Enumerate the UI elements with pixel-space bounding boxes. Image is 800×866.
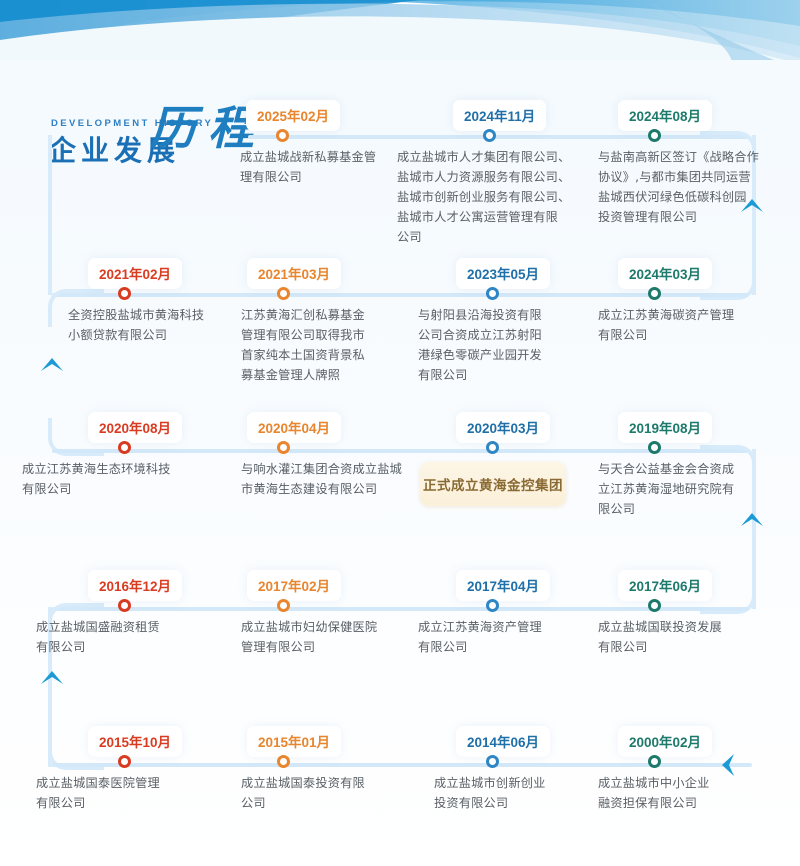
item-description: 成立盐城国泰医院管理 有限公司 — [36, 773, 211, 813]
date-label: 2000年02月 — [618, 726, 712, 757]
timeline-dot — [648, 441, 661, 454]
date-label: 2020年04月 — [247, 412, 341, 443]
timeline-dot — [277, 755, 290, 768]
item-description: 成立盐城国泰投资有限 公司 — [241, 773, 411, 813]
date-label: 2017年02月 — [247, 570, 341, 601]
timeline-dot — [648, 755, 661, 768]
date-label: 2019年08月 — [618, 412, 712, 443]
timeline-dot — [486, 599, 499, 612]
date-label: 2020年03月 — [456, 412, 550, 443]
timeline-dot — [276, 129, 289, 142]
timeline-page: DEVELOPMENT HISTORY 企业发展 历程 » — [0, 0, 800, 866]
date-label: 2021年03月 — [247, 258, 341, 289]
date-label: 2015年10月 — [88, 726, 182, 757]
title-calligraphy: 历程 — [150, 84, 252, 152]
timeline-dot — [118, 755, 131, 768]
item-description: 成立盐城市人才集团有限公司、 盐城市人力资源服务有限公司、 盐城市创新创业服务有… — [397, 147, 597, 247]
rail-row-1 — [248, 135, 748, 139]
milestone-highlight-box[interactable]: 正式成立黄海金控集团 — [420, 462, 566, 506]
rail-row-5 — [52, 763, 752, 767]
timeline-dot — [648, 287, 661, 300]
timeline-dot — [277, 599, 290, 612]
item-description: 成立江苏黄海生态环境科技 有限公司 — [22, 459, 212, 499]
date-label: 2015年01月 — [247, 726, 341, 757]
timeline-dot — [277, 287, 290, 300]
timeline-dot — [118, 599, 131, 612]
rail-row-2 — [52, 293, 748, 297]
timeline-dot — [277, 441, 290, 454]
item-description: 成立江苏黄海资产管理 有限公司 — [418, 617, 583, 657]
timeline-dot — [486, 755, 499, 768]
item-description: 与盐南高新区签订《战略合作 协议》,与都市集团共同运营 盐城西伏河绿色低碳科创园… — [598, 147, 778, 227]
item-description: 江苏黄海汇创私募基金 管理有限公司取得我市 首家纯本土国资背景私 募基金管理人牌… — [241, 305, 386, 385]
item-description: 与射阳县沿海投资有限 公司合资成立江苏射阳 港绿色零碳产业园开发 有限公司 — [418, 305, 568, 385]
item-description: 与天合公益基金会合资成 立江苏黄海湿地研究院有 限公司 — [598, 459, 748, 519]
date-label: 2017年04月 — [456, 570, 550, 601]
timeline-dot — [118, 441, 131, 454]
date-label: 2017年06月 — [618, 570, 712, 601]
item-description: 成立盐城市中小企业 融资担保有限公司 — [598, 773, 758, 813]
milestone-label: 正式成立黄海金控集团 — [423, 474, 563, 494]
item-description: 成立盐城市创新创业 投资有限公司 — [434, 773, 594, 813]
item-description: 成立江苏黄海碳资产管理 有限公司 — [598, 305, 758, 345]
date-label: 2023年05月 — [456, 258, 550, 289]
date-label: 2014年06月 — [456, 726, 550, 757]
item-description: 全资控股盐城市黄海科技 小额贷款有限公司 — [68, 305, 238, 345]
date-label: 2025年02月 — [246, 100, 340, 131]
title-calligraphy-char-1: 历 — [150, 103, 194, 154]
date-label: 2024年11月 — [453, 100, 546, 131]
item-description: 与响水灌江集团合资成立盐城 市黄海生态建设有限公司 — [241, 459, 436, 499]
timeline-dot — [648, 599, 661, 612]
timeline-dot — [118, 287, 131, 300]
timeline-dot — [486, 287, 499, 300]
timeline-dot — [483, 129, 496, 142]
rail-row-4 — [52, 607, 748, 611]
item-description: 成立盐城市妇幼保健医院 管理有限公司 — [241, 617, 421, 657]
timeline-dot — [486, 441, 499, 454]
item-description: 成立盐城国盛融资租赁 有限公司 — [36, 617, 211, 657]
date-label: 2024年08月 — [618, 100, 712, 131]
date-label: 2021年02月 — [88, 258, 182, 289]
timeline-dot — [648, 129, 661, 142]
rail-row-3 — [52, 449, 748, 453]
date-label: 2020年08月 — [88, 412, 182, 443]
item-description: 成立盐城国联投资发展 有限公司 — [598, 617, 758, 657]
item-description: 成立盐城战新私募基金管 理有限公司 — [240, 147, 400, 187]
date-label: 2016年12月 — [88, 570, 182, 601]
chevron-up-icon-left-1 — [39, 355, 65, 373]
chevron-up-icon-left-2 — [39, 668, 65, 686]
date-label: 2024年03月 — [618, 258, 712, 289]
